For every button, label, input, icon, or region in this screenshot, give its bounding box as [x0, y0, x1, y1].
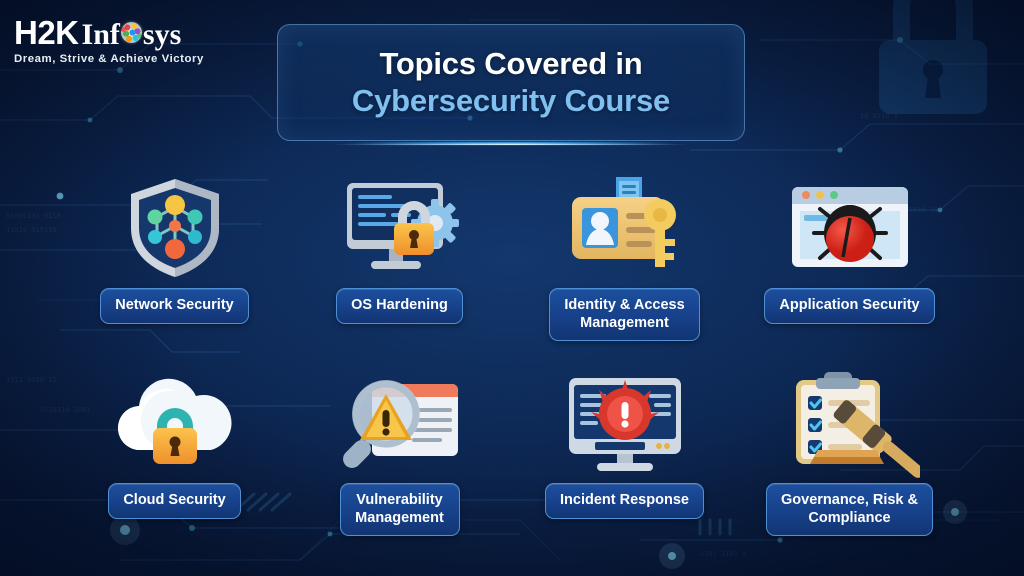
topic-card-os-hardening[interactable]: OS Hardening [287, 168, 512, 363]
topic-card-network-security[interactable]: Network Security [62, 168, 287, 363]
topic-label[interactable]: Application Security [764, 288, 934, 324]
id-card-key-icon [560, 168, 690, 286]
topic-label[interactable]: Identity & Access Management [549, 288, 699, 341]
topic-card-identity-access-management[interactable]: Identity & Access Management [512, 168, 737, 363]
page-title: Topics Covered in Cybersecurity Course [277, 24, 745, 141]
globe-icon [121, 22, 142, 43]
cloud-lock-icon [107, 363, 243, 481]
topic-card-application-security[interactable]: Application Security [737, 168, 962, 363]
topic-label[interactable]: Cloud Security [108, 483, 240, 519]
topics-grid: Network Security [62, 168, 962, 558]
topic-label[interactable]: OS Hardening [336, 288, 463, 324]
brand-name-inf: Inf [82, 18, 120, 52]
shield-network-icon [119, 168, 231, 286]
browser-bug-icon [780, 168, 920, 286]
topic-card-governance-risk-compliance[interactable]: Governance, Risk & Compliance [737, 363, 962, 558]
brand-name: H2K Inf sys [14, 14, 234, 52]
brand-tagline: Dream, Strive & Achieve Victory [14, 53, 234, 65]
topic-label[interactable]: Network Security [100, 288, 248, 324]
topic-label[interactable]: Incident Response [545, 483, 704, 519]
clipboard-gavel-icon [780, 363, 920, 481]
page-title-line2: Cybersecurity Course [352, 83, 670, 120]
topic-card-vulnerability-management[interactable]: Vulnerability Management [287, 363, 512, 558]
brand-logo: H2K Inf sys Dream, Strive & Achieve Vict… [14, 14, 234, 65]
monitor-alert-icon [555, 363, 695, 481]
page-title-line1: Topics Covered in [379, 46, 642, 83]
brand-name-sys: sys [143, 18, 181, 52]
magnifier-warning-icon [332, 363, 468, 481]
topic-card-incident-response[interactable]: Incident Response [512, 363, 737, 558]
topic-card-cloud-security[interactable]: Cloud Security [62, 363, 287, 558]
monitor-lock-gear-icon [337, 168, 463, 286]
topic-label[interactable]: Vulnerability Management [340, 483, 460, 536]
brand-name-h2k: H2K [14, 14, 79, 52]
title-glow-core [330, 144, 690, 145]
topic-label[interactable]: Governance, Risk & Compliance [766, 483, 933, 536]
